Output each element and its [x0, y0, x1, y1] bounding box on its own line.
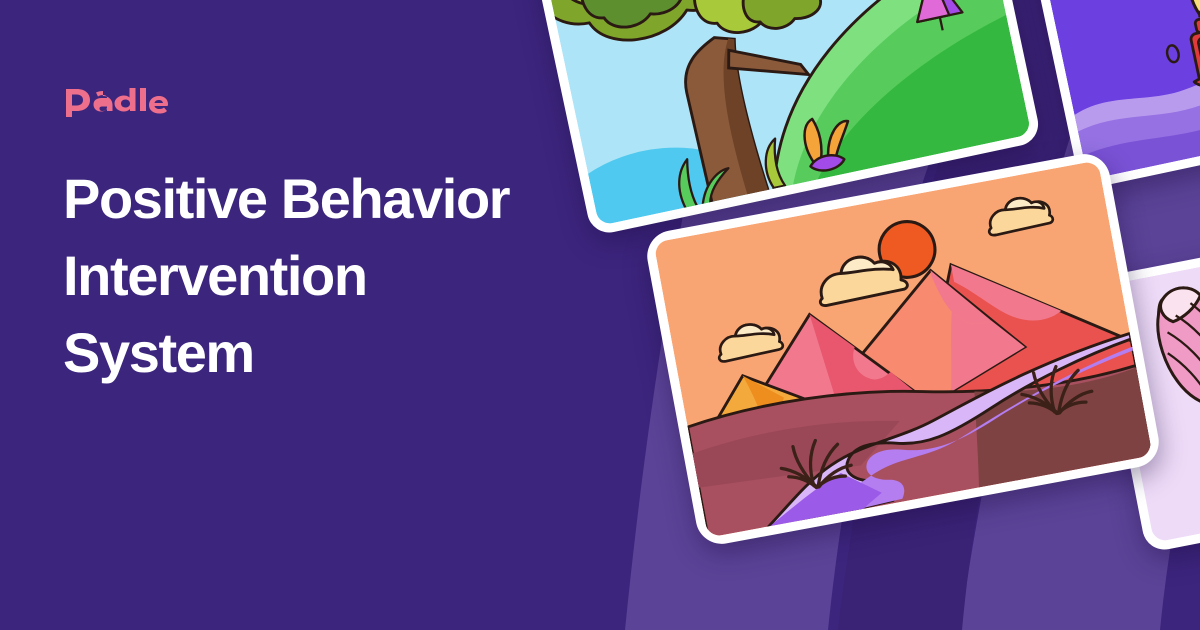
page-title: Positive Behavior Intervention System: [63, 160, 563, 391]
text-column: Padlet Positive Behavior Intervention Sy…: [63, 88, 583, 391]
og-image-canvas: Padlet Positive Behavior Intervention Sy…: [0, 0, 1200, 630]
padlet-logo[interactable]: Padlet: [65, 88, 583, 118]
padlet-wordmark-icon: [65, 88, 169, 118]
